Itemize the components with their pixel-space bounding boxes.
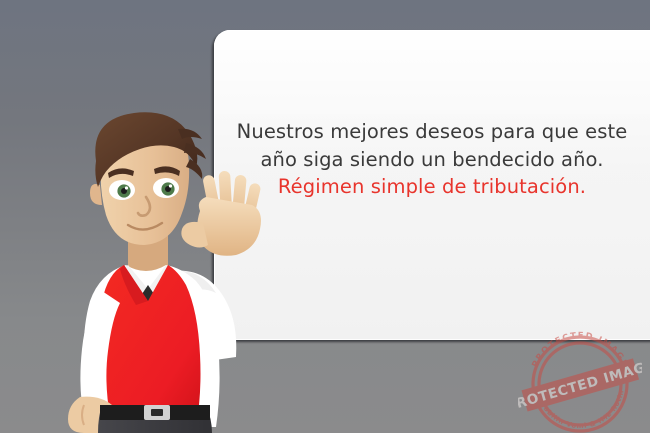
protected-image-stamp: PROTECTED IMAGE By Pobilin Vomi & IML Ro… <box>518 322 642 433</box>
presenter-waving-hand <box>181 171 261 256</box>
slide-scene: Nuestros mejores deseos para que este añ… <box>0 0 650 433</box>
cartoon-presenter <box>40 105 280 433</box>
presenter-belt <box>100 405 210 420</box>
